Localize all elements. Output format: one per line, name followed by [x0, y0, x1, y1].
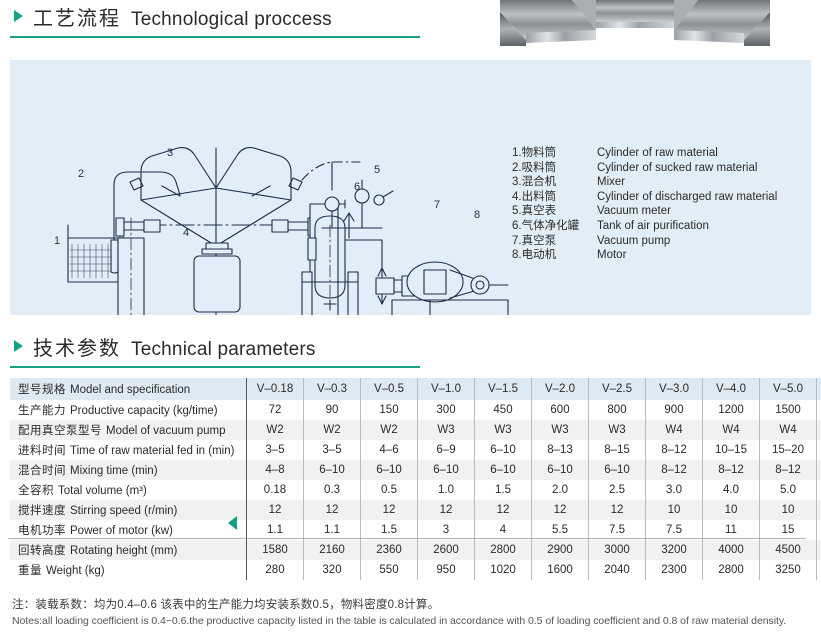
- svg-text:7: 7: [434, 199, 440, 211]
- table-cell: 6–9: [418, 440, 475, 460]
- table-cell: 320: [304, 560, 361, 580]
- table-cell: 1.5: [361, 520, 418, 540]
- stirring-speed-row-marker-icon: [228, 516, 237, 530]
- row-label-cn: 全容积: [18, 485, 54, 497]
- legend-item-en: Cylinder of raw material: [597, 146, 718, 161]
- table-cell: 4–6: [361, 440, 418, 460]
- table-cell: 550: [361, 560, 418, 580]
- table-cell: 2300: [646, 560, 703, 580]
- legend-item-cn: 1.物料筒: [512, 146, 597, 161]
- table-cell: 5000: [817, 540, 821, 560]
- row-label-en: Stirring speed (r/min): [70, 505, 177, 517]
- table-cell: 8–15: [589, 440, 646, 460]
- row-label-cn: 搅拌速度: [18, 505, 66, 517]
- table-cell: 0.3: [304, 480, 361, 500]
- column-header: V–0.18: [247, 378, 304, 400]
- table-cell: 300: [418, 400, 475, 420]
- table-cell: W2: [361, 420, 418, 440]
- table-cell: 3: [418, 520, 475, 540]
- row-label-en: Rotating height (mm): [70, 545, 177, 557]
- table-cell: 4: [475, 520, 532, 540]
- legend-item-cn: 2.吸料筒: [512, 161, 597, 176]
- row-label-en: Mixing time (min): [70, 465, 158, 477]
- table-cell: 10: [760, 500, 817, 520]
- table-cell: 6–10: [475, 440, 532, 460]
- row-label-cn: 重量: [18, 565, 42, 577]
- row-label-en: Productive capacity (kg/time): [70, 405, 218, 417]
- column-header: V–1.5: [475, 378, 532, 400]
- table-cell: 10: [703, 500, 760, 520]
- column-header: V–4.0: [703, 378, 760, 400]
- table-cell: 12: [475, 500, 532, 520]
- product-photo: [492, 0, 778, 46]
- legend-item: 1.物料筒 Cylinder of raw material: [512, 146, 777, 161]
- row-label-cn: 混合时间: [18, 465, 66, 477]
- table-cell: 150: [361, 400, 418, 420]
- legend-item-en: Mixer: [597, 175, 625, 190]
- table-cell: 4.0: [703, 480, 760, 500]
- svg-text:8: 8: [474, 209, 480, 221]
- table-cell: W4: [760, 420, 817, 440]
- notes-en: Notes:all loading coefficient is 0.4~0.6…: [12, 615, 812, 627]
- table-cell: 8–13: [532, 440, 589, 460]
- section-title-en: Technological proccess: [131, 9, 332, 31]
- table-cell: 1580: [247, 540, 304, 560]
- v-mixer-photo-graphic: [492, 0, 778, 46]
- table-cell: 5.5: [532, 520, 589, 540]
- legend-item-en: Vacuum pump: [597, 234, 670, 249]
- table-cell: 2600: [418, 540, 475, 560]
- legend-item-cn: 8.电动机: [512, 248, 597, 263]
- table-cell: 4–8: [247, 460, 304, 480]
- svg-text:2: 2: [78, 168, 84, 180]
- legend-item: 8.电动机 Motor: [512, 248, 777, 263]
- table-cell: 12: [532, 500, 589, 520]
- table-row: 生产能力Productive capacity (kg/time) 72 90 …: [10, 400, 821, 420]
- table-cell: 950: [418, 560, 475, 580]
- technical-parameters-table: 型号规格Model and specification V–0.18 V–0.3…: [10, 378, 821, 580]
- section-rule: [10, 366, 420, 368]
- table-cell: 280: [247, 560, 304, 580]
- legend-item-cn: 3.混合机: [512, 175, 597, 190]
- row-label: 生产能力Productive capacity (kg/time): [10, 400, 247, 420]
- row-label: 全容积Total volume (m³): [10, 480, 247, 500]
- svg-text:4: 4: [183, 227, 189, 239]
- column-header: V–3.0: [646, 378, 703, 400]
- legend-item-en: Tank of air purification: [597, 219, 709, 234]
- table-row: 进料时间Time of raw material fed in (min) 3–…: [10, 440, 821, 460]
- column-header: V–0.3: [304, 378, 361, 400]
- legend-item-en: Motor: [597, 248, 626, 263]
- row-label-cn: 回转高度: [18, 545, 66, 557]
- table-cell: W2: [304, 420, 361, 440]
- svg-text:5: 5: [374, 164, 380, 176]
- table-cell: 3200: [646, 540, 703, 560]
- section-title-en: Technical parameters: [131, 339, 316, 361]
- table-cell: W2: [247, 420, 304, 440]
- table-cell: 3–5: [247, 440, 304, 460]
- svg-text:6: 6: [354, 181, 360, 193]
- table-cell: 2040: [589, 560, 646, 580]
- diagram-legend: 1.物料筒 Cylinder of raw material 2.吸料筒 Cyl…: [512, 146, 777, 263]
- legend-item: 2.吸料筒 Cylinder of sucked raw material: [512, 161, 777, 176]
- table-cell: 1600: [532, 560, 589, 580]
- table-cell: 8–12: [646, 460, 703, 480]
- table-cell: 2800: [475, 540, 532, 560]
- table-header-row: 型号规格Model and specification V–0.18 V–0.3…: [10, 378, 821, 400]
- triangle-bullet-icon: [14, 10, 23, 22]
- table-cell: 15–20: [760, 440, 817, 460]
- table-cell: 4000: [703, 540, 760, 560]
- table-cell: 2.0: [532, 480, 589, 500]
- table-cell: 10: [817, 500, 821, 520]
- process-diagram-panel: 1 2 3 4 5 6 7 8 1.物料筒 Cylinder of raw ma…: [10, 60, 811, 315]
- table-cell: 8–12: [646, 440, 703, 460]
- row-label: 配用真空泵型号Model of vacuum pump: [10, 420, 247, 440]
- table-cell: 2360: [361, 540, 418, 560]
- table-cell: W3: [532, 420, 589, 440]
- svg-text:1: 1: [54, 235, 60, 247]
- table-cell: 6–10: [361, 460, 418, 480]
- section-title-cn: 技术参数: [33, 332, 121, 361]
- row-label-cn: 电机功率: [18, 525, 66, 537]
- triangle-bullet-icon: [14, 340, 23, 352]
- section-rule: [10, 36, 420, 38]
- scan-fold-line: [8, 538, 806, 539]
- table-cell: W4: [703, 420, 760, 440]
- row-label-en: Model of vacuum pump: [106, 425, 226, 437]
- table-cell: W4: [646, 420, 703, 440]
- table-cell: 90: [304, 400, 361, 420]
- row-label-en: Time of raw material fed in (min): [70, 445, 234, 457]
- table-cell: 10–15: [703, 440, 760, 460]
- row-label-cn: 配用真空泵型号: [18, 425, 102, 437]
- table-row: 回转高度Rotating height (mm) 1580 2160 2360 …: [10, 540, 821, 560]
- legend-item-en: Cylinder of sucked raw material: [597, 161, 757, 176]
- row-label-cn: 型号规格: [18, 384, 66, 396]
- table-cell: 450: [475, 400, 532, 420]
- table-cell: 6–10: [475, 460, 532, 480]
- legend-item: 7.真空泵 Vacuum pump: [512, 234, 777, 249]
- table-cell: 12: [589, 500, 646, 520]
- row-label-cn: 生产能力: [18, 405, 66, 417]
- legend-item-cn: 5.真空表: [512, 204, 597, 219]
- table-cell: 6–10: [589, 460, 646, 480]
- table-cell: 3250: [760, 560, 817, 580]
- table-cell: 12: [304, 500, 361, 520]
- table-cell: 4500: [760, 540, 817, 560]
- table-cell: 8–12: [703, 460, 760, 480]
- notes-cn: 注：装载系数：均为0.4–0.6 该表中的生产能力均安装系数0.5，物料密度0.…: [12, 596, 812, 612]
- column-header: V–0.5: [361, 378, 418, 400]
- table-cell: 1800: [817, 400, 821, 420]
- table-cell: 18–25: [817, 440, 821, 460]
- table-cell: 2160: [304, 540, 361, 560]
- legend-item-cn: 6.气体净化罐: [512, 219, 597, 234]
- table-row: 全容积Total volume (m³) 0.18 0.3 0.5 1.0 1.…: [10, 480, 821, 500]
- table-cell: 2900: [532, 540, 589, 560]
- legend-item-en: Cylinder of discharged raw material: [597, 190, 777, 205]
- table-cell: 12: [247, 500, 304, 520]
- table-cell: W3: [475, 420, 532, 440]
- table-cell: 1500: [760, 400, 817, 420]
- table-cell: 6.0: [817, 480, 821, 500]
- table-cell: 3.0: [646, 480, 703, 500]
- table-cell: 3–5: [304, 440, 361, 460]
- legend-item: 4.出料筒 Cylinder of discharged raw materia…: [512, 190, 777, 205]
- table-cell: 2800: [703, 560, 760, 580]
- table-cell: 1.1: [247, 520, 304, 540]
- column-header: V–2.0: [532, 378, 589, 400]
- column-header: V–6: [817, 378, 821, 400]
- row-label-en: Power of motor (kw): [70, 525, 173, 537]
- table-cell: W3: [589, 420, 646, 440]
- row-label-en: Model and specification: [70, 384, 190, 396]
- row-label-en: Total volume (m³): [58, 485, 147, 497]
- legend-item: 3.混合机 Mixer: [512, 175, 777, 190]
- table-cell: 1020: [475, 560, 532, 580]
- row-label: 回转高度Rotating height (mm): [10, 540, 247, 560]
- table-cell: 3850: [817, 560, 821, 580]
- table-row: 配用真空泵型号Model of vacuum pump W2 W2 W2 W3 …: [10, 420, 821, 440]
- column-header: V–1.0: [418, 378, 475, 400]
- row-label: 搅拌速度Stirring speed (r/min): [10, 500, 247, 520]
- table-row: 重量Weight (kg) 280 320 550 950 1020 1600 …: [10, 560, 821, 580]
- table-cell: 1.1: [304, 520, 361, 540]
- table-row: 混合时间Mixing time (min) 4–8 6–10 6–10 6–10…: [10, 460, 821, 480]
- row-label: 电机功率Power of motor (kw): [10, 520, 247, 540]
- table-cell: 8–12: [817, 460, 821, 480]
- svg-text:3: 3: [167, 147, 173, 159]
- table-header-label: 型号规格Model and specification: [10, 378, 247, 400]
- table-cell: 2.5: [589, 480, 646, 500]
- row-label: 混合时间Mixing time (min): [10, 460, 247, 480]
- table-cell: 3000: [589, 540, 646, 560]
- table-cell: 1.5: [475, 480, 532, 500]
- table-cell: 0.18: [247, 480, 304, 500]
- table-cell: 7.5: [646, 520, 703, 540]
- section-header-params: 技术参数 Technical parameters: [10, 332, 420, 368]
- table-cell: 600: [532, 400, 589, 420]
- section-header-process: 工艺流程 Technological proccess: [10, 2, 420, 38]
- legend-item: 5.真空表 Vacuum meter: [512, 204, 777, 219]
- table-cell: 7.5: [589, 520, 646, 540]
- row-label: 进料时间Time of raw material fed in (min): [10, 440, 247, 460]
- row-label-en: Weight (kg): [46, 565, 105, 577]
- table-cell: 12: [418, 500, 475, 520]
- table-cell: 10: [646, 500, 703, 520]
- table-cell: W4: [817, 420, 821, 440]
- table-cell: 800: [589, 400, 646, 420]
- table-cell: 5.0: [760, 480, 817, 500]
- legend-item-en: Vacuum meter: [597, 204, 671, 219]
- table-row: 搅拌速度Stirring speed (r/min) 12 12 12 12 1…: [10, 500, 821, 520]
- section-title-cn: 工艺流程: [33, 2, 121, 31]
- row-label: 重量Weight (kg): [10, 560, 247, 580]
- table-row: 电机功率Power of motor (kw) 1.1 1.1 1.5 3 4 …: [10, 520, 821, 540]
- table-cell: 72: [247, 400, 304, 420]
- table-cell: 11: [703, 520, 760, 540]
- column-header: V–5.0: [760, 378, 817, 400]
- legend-item-cn: 4.出料筒: [512, 190, 597, 205]
- table-cell: 6–10: [304, 460, 361, 480]
- table-cell: 12: [361, 500, 418, 520]
- table-cell: 0.5: [361, 480, 418, 500]
- row-label-cn: 进料时间: [18, 445, 66, 457]
- column-header: V–2.5: [589, 378, 646, 400]
- table-cell: 900: [646, 400, 703, 420]
- legend-item-cn: 7.真空泵: [512, 234, 597, 249]
- legend-item: 6.气体净化罐 Tank of air purification: [512, 219, 777, 234]
- notes-block: 注：装载系数：均为0.4–0.6 该表中的生产能力均安装系数0.5，物料密度0.…: [12, 596, 812, 627]
- table-cell: 6–10: [418, 460, 475, 480]
- table-cell: 6–10: [532, 460, 589, 480]
- table-cell: 15: [760, 520, 817, 540]
- table-cell: 8–12: [760, 460, 817, 480]
- table-cell: 1.0: [418, 480, 475, 500]
- table-cell: 18.5: [817, 520, 821, 540]
- table-cell: 1200: [703, 400, 760, 420]
- table-cell: W3: [418, 420, 475, 440]
